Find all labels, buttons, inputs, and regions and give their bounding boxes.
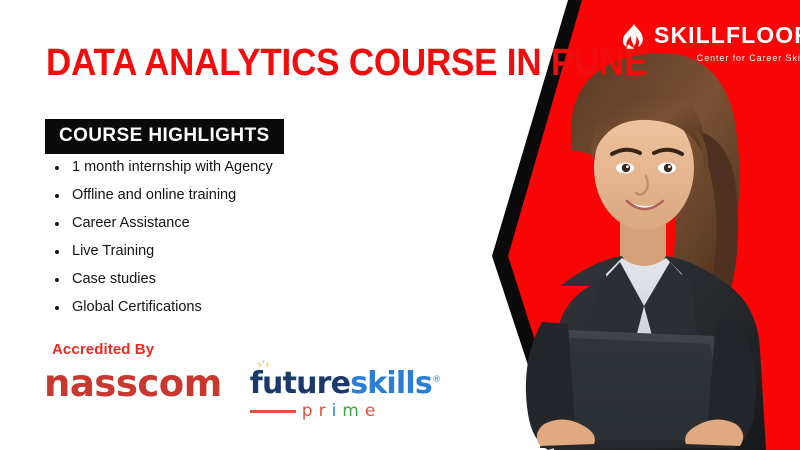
promo-banner: SKILLFLOOR Center for Career Skills DATA…: [0, 0, 800, 450]
list-item: 1 month internship with Agency: [52, 160, 273, 176]
prime-letters: prime: [302, 401, 382, 421]
futureskills-part-skills: skills: [350, 366, 432, 401]
list-item: Career Assistance: [52, 216, 273, 232]
prime-letter: p: [302, 401, 319, 421]
futureskills-prime-logo: ›'› futureskills® prime: [250, 365, 440, 421]
prime-letter: r: [319, 401, 332, 421]
list-item: Global Certifications: [52, 300, 273, 316]
brand-name: SKILLFLOOR: [654, 24, 800, 47]
prime-letter: e: [365, 401, 381, 421]
registered-mark: ®: [432, 375, 440, 385]
prime-rule: [250, 410, 296, 413]
prime-letter: i: [332, 401, 343, 421]
futureskills-part-future: future: [250, 366, 350, 401]
prime-letter: m: [342, 401, 365, 421]
course-highlights-badge: COURSE HIGHLIGHTS: [45, 119, 284, 154]
page-title: DATA ANALYTICS COURSE IN PUNE: [46, 44, 469, 84]
accredited-by-label: Accredited By: [52, 341, 154, 358]
sparkle-icon: ›'›: [258, 359, 270, 371]
brand-tagline: Center for Career Skills: [654, 53, 800, 63]
futureskills-wordmark: futureskills®: [250, 366, 440, 401]
list-item: Live Training: [52, 244, 273, 260]
list-item: Case studies: [52, 272, 273, 288]
nasscom-logo: nasscom: [44, 365, 222, 402]
highlights-list: 1 month internship with Agency Offline a…: [52, 160, 273, 328]
prime-wordmark: prime: [250, 401, 440, 421]
list-item: Offline and online training: [52, 188, 273, 204]
accreditation-logos: nasscom ›'› futureskills® prime: [44, 365, 440, 421]
